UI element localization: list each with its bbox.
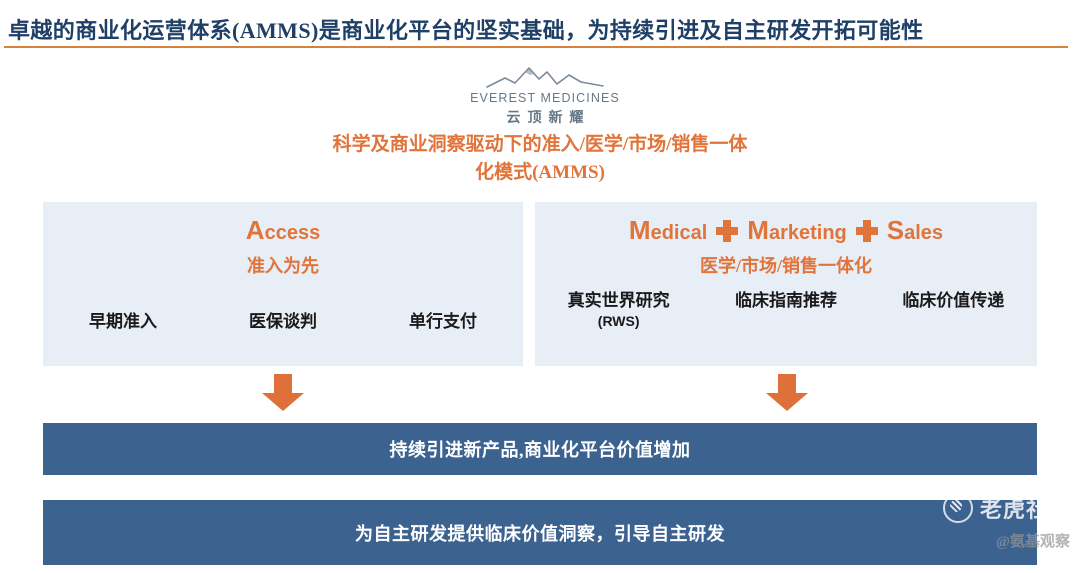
list-item: 早期准入	[89, 311, 157, 332]
list-item: 真实世界研究 (RWS)	[568, 290, 670, 332]
brand-logo: EVEREST MEDICINES 云顶新耀	[470, 62, 620, 127]
list-item: 临床指南推荐	[735, 290, 837, 311]
heading-initial: M	[629, 215, 651, 245]
item-label: 真实世界研究	[568, 291, 670, 310]
arrow-down-icon	[764, 374, 810, 412]
heading-rest: ales	[904, 222, 943, 244]
panel-mms-heading-en: MedicalMarketingSales	[535, 217, 1037, 243]
panel-medical-marketing-sales: MedicalMarketingSales 医学/市场/销售一体化 真实世界研究…	[535, 202, 1037, 366]
heading-rest: arketing	[769, 222, 847, 244]
item-label: 医保谈判	[249, 312, 317, 331]
heading-rest: ccess	[265, 222, 321, 244]
list-item: 单行支付	[409, 311, 477, 332]
panel-mms-heading-cn: 医学/市场/销售一体化	[535, 252, 1037, 278]
arrow-down-icon	[260, 374, 306, 412]
slide-subtitle: 科学及商业洞察驱动下的准入/医学/市场/销售一体 化模式(AMMS)	[240, 131, 840, 187]
banner-rnd-insight: 为自主研发提供临床价值洞察，引导自主研发	[43, 500, 1037, 565]
heading-initial: M	[747, 215, 769, 245]
banner-product-value: 持续引进新产品,商业化平台价值增加	[43, 423, 1037, 475]
page-title: 卓越的商业化运营体系(AMMS)是商业化平台的坚实基础，为持续引进及自主研发开拓…	[8, 13, 1072, 45]
list-item: 医保谈判	[249, 311, 317, 332]
item-label: 临床价值传递	[902, 291, 1004, 310]
panel-mms-items: 真实世界研究 (RWS) 临床指南推荐 临床价值传递	[535, 290, 1037, 332]
heading-initial: A	[246, 215, 265, 245]
heading-rest: edical	[651, 222, 708, 244]
panel-access-heading-en: Access	[43, 217, 523, 243]
item-label: 单行支付	[409, 312, 477, 331]
item-label: 早期准入	[89, 312, 157, 331]
panel-access-items: 早期准入 医保谈判 单行支付	[43, 311, 523, 332]
plus-icon	[856, 220, 878, 242]
title-divider	[4, 46, 1068, 48]
item-sublabel: (RWS)	[568, 311, 670, 332]
panel-access: Access 准入为先 早期准入 医保谈判 单行支付	[43, 202, 523, 366]
brand-name-en: EVEREST MEDICINES	[470, 91, 620, 105]
panel-access-heading-cn: 准入为先	[43, 252, 523, 278]
item-label: 临床指南推荐	[735, 291, 837, 310]
subtitle-line-1: 科学及商业洞察驱动下的准入/医学/市场/销售一体	[333, 134, 748, 155]
subtitle-line-2: 化模式(AMMS)	[475, 162, 605, 183]
list-item: 临床价值传递	[902, 290, 1004, 311]
brand-name-cn: 云顶新耀	[470, 107, 620, 127]
plus-icon	[716, 220, 738, 242]
heading-initial: S	[887, 215, 904, 245]
mountain-range-icon	[485, 62, 605, 90]
